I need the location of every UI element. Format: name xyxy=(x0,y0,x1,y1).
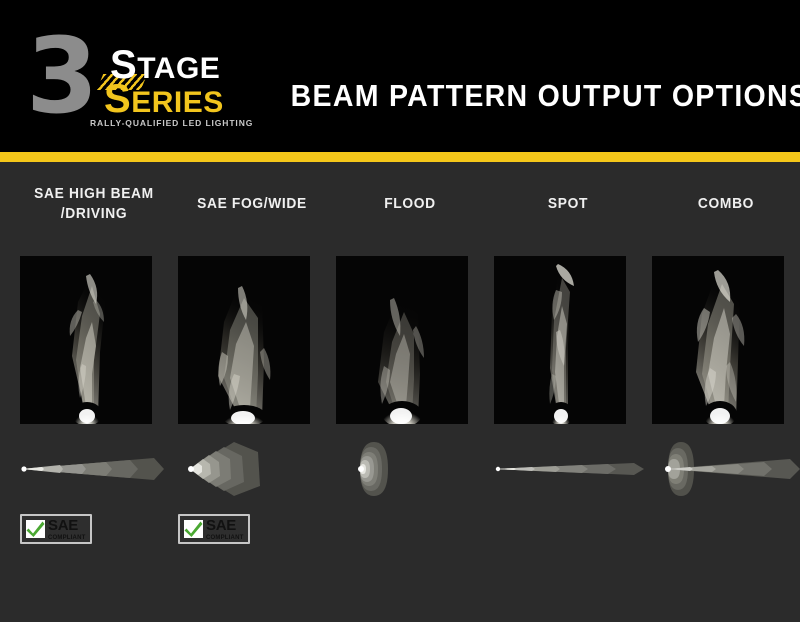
beam-option-sae-high-beam-driving[interactable]: SAE HIGH BEAM/DRIVING xyxy=(20,162,168,572)
beam-option-label: SPOT xyxy=(488,194,648,214)
beam-spread-diagram-driving xyxy=(14,438,174,500)
brand-logo: 3 STAGE SERIES RALLY-QUALIFIED LED LIGHT… xyxy=(26,28,266,132)
sae-badge-main-label: SAE xyxy=(48,518,92,534)
beam-pattern-chart: 3 STAGE SERIES RALLY-QUALIFIED LED LIGHT… xyxy=(0,0,800,622)
check-icon xyxy=(184,520,203,538)
page-title: BEAM PATTERN OUTPUT OPTIONS xyxy=(291,78,766,114)
beam-option-spot[interactable]: SPOT xyxy=(494,162,642,572)
beam-photo-combo xyxy=(652,256,784,424)
beam-option-label: COMBO xyxy=(646,194,800,214)
sae-badge-main-label: SAE xyxy=(206,518,250,534)
beam-options-grid: SAE HIGH BEAM/DRIVING xyxy=(0,162,800,622)
beam-spread-diagram-combo xyxy=(646,438,800,500)
beam-photo-flood xyxy=(336,256,468,424)
beam-spread-diagram-fog xyxy=(172,438,332,500)
beam-photo-sae-high-beam-driving xyxy=(20,256,152,424)
beam-photo-spot xyxy=(494,256,626,424)
beam-option-label: SAE FOG/WIDE xyxy=(172,194,332,214)
logo-series-rest: ERIES xyxy=(131,86,224,119)
sae-badge-sub-label: COMPLIANT xyxy=(206,534,250,542)
header-bar: 3 STAGE SERIES RALLY-QUALIFIED LED LIGHT… xyxy=(0,0,800,152)
sae-compliant-badge: SAE COMPLIANT xyxy=(20,514,92,544)
sae-badge-sub-label: COMPLIANT xyxy=(48,534,92,542)
sae-badge-text: SAE COMPLIANT xyxy=(48,518,92,542)
beam-option-sae-fog-wide[interactable]: SAE FOG/WIDE xyxy=(178,162,326,572)
sae-compliant-badge: SAE COMPLIANT xyxy=(178,514,250,544)
logo-stage-rest: TAGE xyxy=(137,52,220,85)
logo-numeral: 3 xyxy=(26,24,94,128)
beam-option-flood[interactable]: FLOOD xyxy=(336,162,484,572)
beam-option-label: FLOOD xyxy=(330,194,490,214)
header-divider xyxy=(0,152,800,162)
beam-photo-sae-fog-wide xyxy=(178,256,310,424)
beam-option-combo[interactable]: COMBO xyxy=(652,162,800,572)
logo-word-series: SERIES xyxy=(104,84,224,118)
beam-spread-diagram-spot xyxy=(488,438,648,500)
sae-badge-text: SAE COMPLIANT xyxy=(206,518,250,542)
check-icon xyxy=(26,520,45,538)
beam-spread-diagram-flood xyxy=(330,438,490,500)
beam-option-label: SAE HIGH BEAM/DRIVING xyxy=(14,184,174,224)
logo-tagline: RALLY-QUALIFIED LED LIGHTING xyxy=(90,118,253,128)
